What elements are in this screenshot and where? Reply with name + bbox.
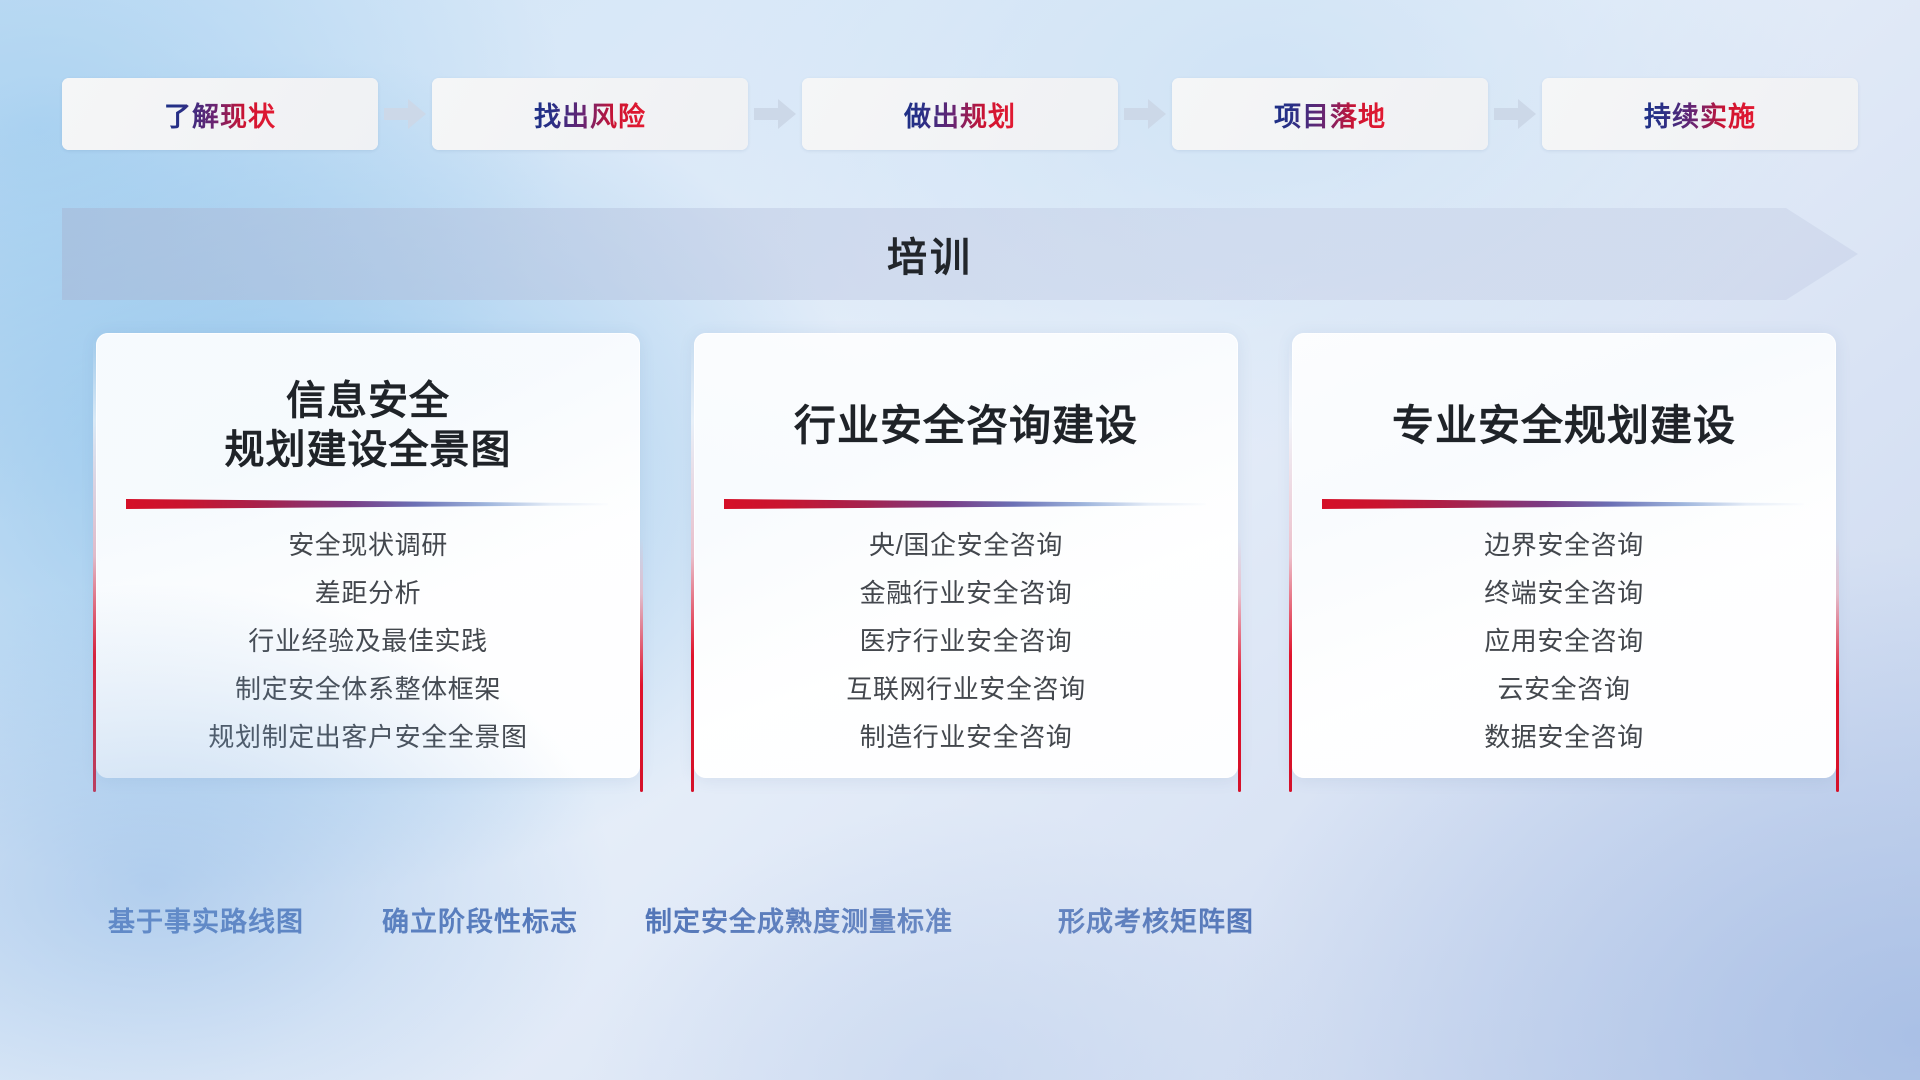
card-2-title: 专业安全规划建设 — [1318, 363, 1810, 481]
process-step-0[interactable]: 了解现状 — [62, 78, 378, 150]
card-0-title-line-0: 信息安全 — [286, 379, 450, 423]
list-item: 云安全咨询 — [1318, 669, 1810, 710]
training-banner: 培训 — [62, 208, 1858, 300]
process-step-3[interactable]: 项目落地 — [1172, 78, 1488, 150]
process-step-2-label: 做出规划 — [904, 95, 1016, 134]
process-step-0-surface: 了解现状 — [62, 78, 378, 150]
list-item: 边界安全咨询 — [1318, 525, 1810, 566]
banner-title: 培训 — [62, 208, 1858, 300]
list-item: 终端安全咨询 — [1318, 573, 1810, 614]
card-1-title-line-0: 行业安全咨询建设 — [794, 400, 1138, 451]
card-1[interactable]: 行业安全咨询建设 央/国企安全咨询 金融行业安全咨询 医疗行业安全咨询 互联网行… — [694, 333, 1238, 778]
card-0-list: 安全现状调研 差距分析 行业经验及最佳实践 制定安全体系整体框架 规划制定出客户… — [122, 525, 614, 758]
list-item: 金融行业安全咨询 — [720, 573, 1212, 614]
list-item: 安全现状调研 — [122, 525, 614, 566]
arrow-right-icon — [378, 92, 432, 136]
card-2-title-line-0: 专业安全规划建设 — [1392, 400, 1736, 451]
process-step-4-surface: 持续实施 — [1542, 78, 1858, 150]
slide-canvas: 了解现状 找出风险 做出规划 — [0, 0, 1920, 1080]
list-item: 制定安全体系整体框架 — [122, 669, 614, 710]
list-item: 应用安全咨询 — [1318, 621, 1810, 662]
process-step-1-label: 找出风险 — [534, 95, 646, 134]
list-item: 规划制定出客户安全全景图 — [122, 717, 614, 758]
process-step-2[interactable]: 做出规划 — [802, 78, 1118, 150]
process-step-3-label: 项目落地 — [1274, 95, 1386, 134]
process-step-1-surface: 找出风险 — [432, 78, 748, 150]
footer-label-3: 形成考核矩阵图 — [1058, 900, 1254, 939]
card-2[interactable]: 专业安全规划建设 边界安全咨询 终端安全咨询 应用安全咨询 云安全咨询 数据安全… — [1292, 333, 1836, 778]
card-1-list: 央/国企安全咨询 金融行业安全咨询 医疗行业安全咨询 互联网行业安全咨询 制造行… — [720, 525, 1212, 758]
card-0-title-line-1: 规划建设全景图 — [225, 428, 512, 472]
card-1-title: 行业安全咨询建设 — [720, 363, 1212, 481]
arrow-right-icon — [748, 92, 802, 136]
card-0-title: 信息安全 规划建设全景图 — [122, 363, 614, 481]
process-step-4[interactable]: 持续实施 — [1542, 78, 1858, 150]
footer-label-0: 基于事实路线图 — [108, 900, 304, 939]
card-2-list: 边界安全咨询 终端安全咨询 应用安全咨询 云安全咨询 数据安全咨询 — [1318, 525, 1810, 758]
list-item: 央/国企安全咨询 — [720, 525, 1212, 566]
list-item: 医疗行业安全咨询 — [720, 621, 1212, 662]
list-item: 数据安全咨询 — [1318, 717, 1810, 758]
card-0[interactable]: 信息安全 规划建设全景图 安全现状调研 差距分析 行业经验及最佳实践 制定安全体… — [96, 333, 640, 778]
list-item: 行业经验及最佳实践 — [122, 621, 614, 662]
list-item: 互联网行业安全咨询 — [720, 669, 1212, 710]
arrow-right-icon — [1488, 92, 1542, 136]
process-step-row: 了解现状 找出风险 做出规划 — [62, 78, 1858, 150]
footer-label-1: 确立阶段性标志 — [382, 900, 578, 939]
footer-label-row: 基于事实路线图 确立阶段性标志 制定安全成熟度测量标准 形成考核矩阵图 — [0, 900, 1920, 960]
process-step-3-surface: 项目落地 — [1172, 78, 1488, 150]
list-item: 制造行业安全咨询 — [720, 717, 1212, 758]
footer-label-2: 制定安全成熟度测量标准 — [645, 900, 953, 939]
list-item: 差距分析 — [122, 573, 614, 614]
process-step-4-label: 持续实施 — [1644, 95, 1756, 134]
process-step-0-label: 了解现状 — [164, 95, 276, 134]
arrow-right-icon — [1118, 92, 1172, 136]
process-step-1[interactable]: 找出风险 — [432, 78, 748, 150]
process-step-2-surface: 做出规划 — [802, 78, 1118, 150]
card-row: 信息安全 规划建设全景图 安全现状调研 差距分析 行业经验及最佳实践 制定安全体… — [96, 333, 1836, 778]
